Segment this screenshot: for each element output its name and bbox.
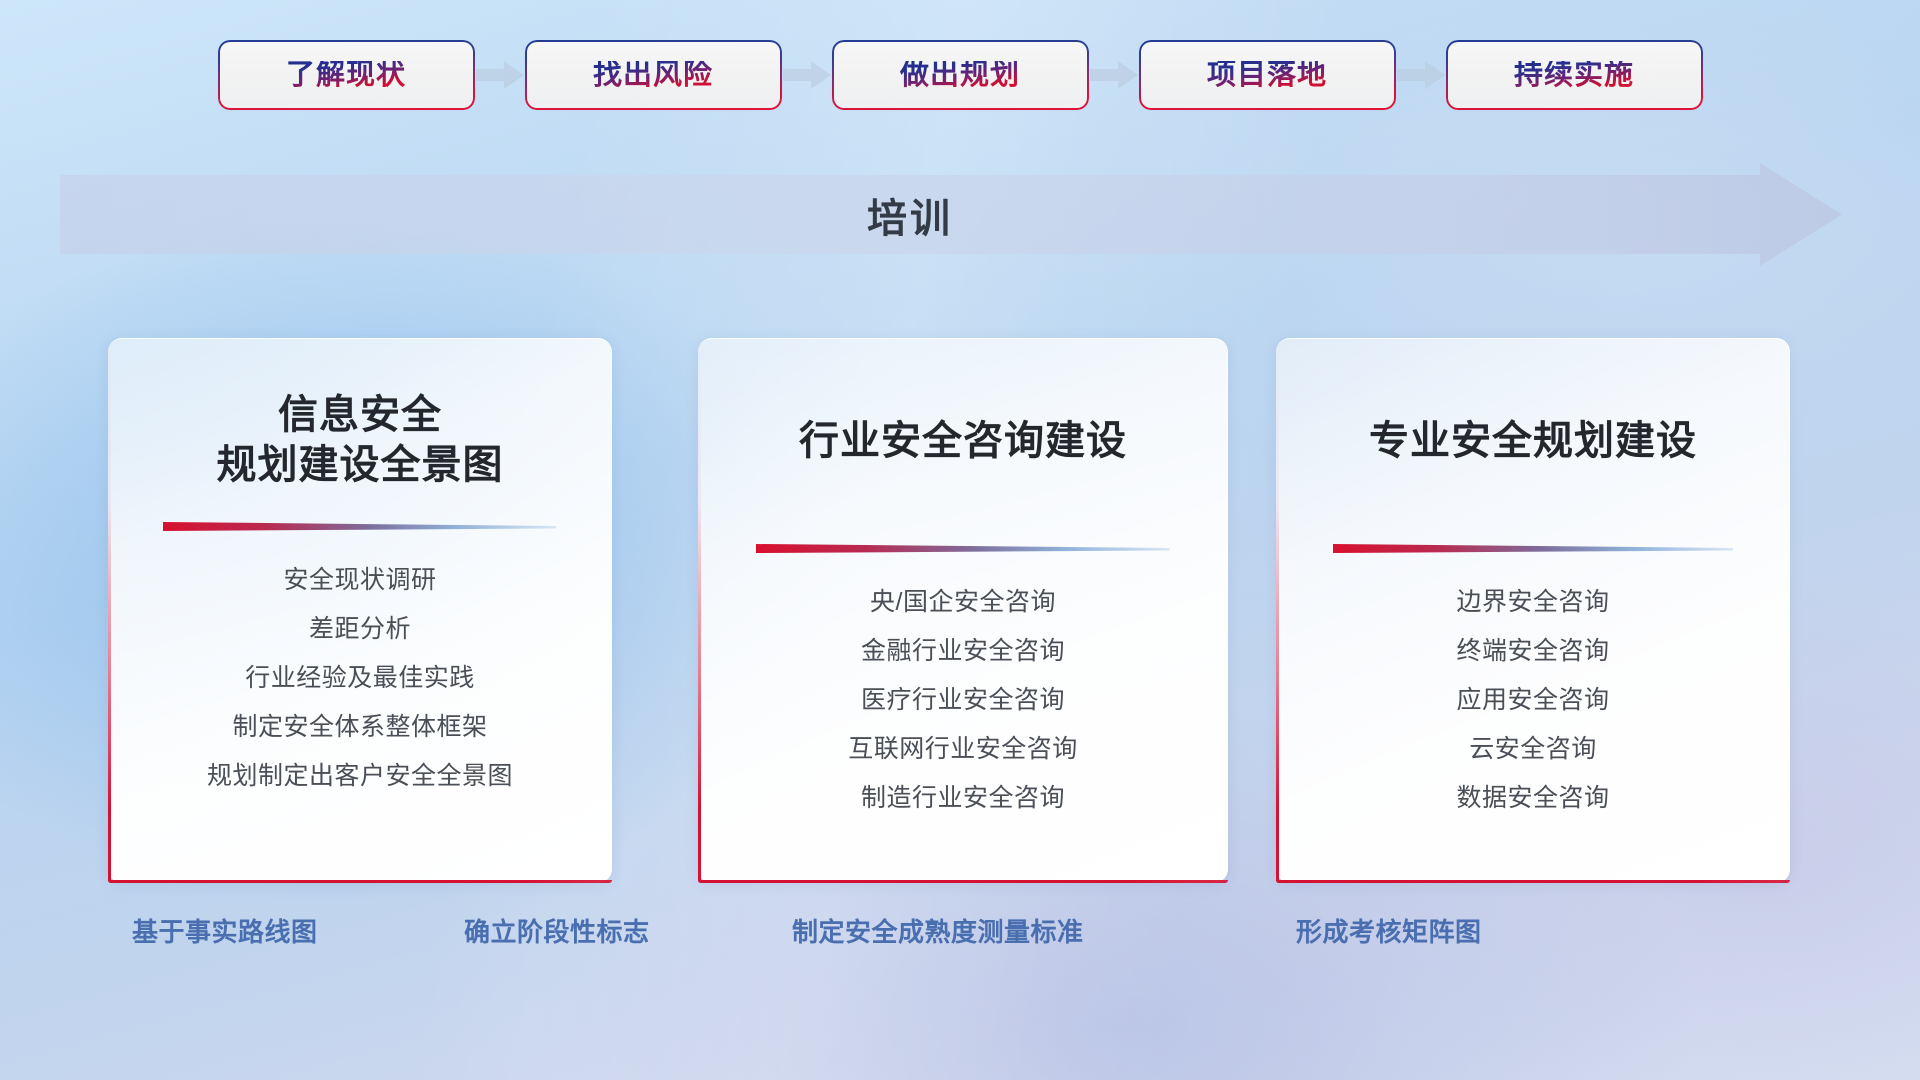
step-label-4: 项目落地 [1207,61,1327,90]
training-banner: 培训 [60,163,1842,266]
card-2-title: 行业安全咨询建设 [698,338,1228,466]
list-item: 金融行业安全咨询 [861,631,1065,671]
list-item: 边界安全咨询 [1456,582,1609,622]
list-item: 互联网行业安全咨询 [848,729,1078,769]
list-item: 规划制定出客户安全全景图 [207,756,513,796]
process-step-bar: 了解现状 找出风险 做出规划 项目落地 持续实施 [0,0,1920,150]
list-item: 行业经验及最佳实践 [245,658,475,698]
card-3[interactable]: 专业安全规划建设 边界安全咨询 终端安全咨询 应用安全咨询 [1276,338,1790,883]
list-item: 差距分析 [309,609,411,649]
step-pill-4[interactable]: 项目落地 [1141,42,1394,108]
footnote-4: 形成考核矩阵图 [1296,912,1482,949]
list-item: 应用安全咨询 [1456,680,1609,720]
banner-title: 培训 [60,163,1760,266]
list-item: 数据安全咨询 [1456,778,1609,818]
list-item: 云安全咨询 [1469,729,1597,769]
card-3-title-line-1: 专业安全规划建设 [1276,416,1790,466]
step-label-3: 做出规划 [900,61,1020,90]
footnote-3: 制定安全成熟度测量标准 [792,912,1084,949]
footnote-2: 确立阶段性标志 [464,912,650,949]
card-2-title-line-1: 行业安全咨询建设 [698,416,1228,466]
card-1-title-line-1: 信息安全 [108,390,612,440]
card-3-title: 专业安全规划建设 [1276,338,1790,466]
step-label-1: 了解现状 [286,61,406,90]
card-1-title: 信息安全 规划建设全景图 [108,338,612,490]
list-item: 制造行业安全咨询 [861,778,1065,818]
arrow-right-icon [474,58,526,92]
step-label-5: 持续实施 [1514,61,1634,90]
card-1-list: 安全现状调研 差距分析 行业经验及最佳实践 制定安全体系整体框架 规划制定出客户… [108,560,612,796]
capability-cards: 信息安全 规划建设全景图 安全现状调研 差距分析 行 [0,338,1920,883]
step-pill-1[interactable]: 了解现状 [220,42,473,108]
card-2-divider [756,542,1169,556]
list-item: 安全现状调研 [283,560,436,600]
step-pill-5[interactable]: 持续实施 [1448,42,1701,108]
card-1[interactable]: 信息安全 规划建设全景图 安全现状调研 差距分析 行 [108,338,612,883]
list-item: 央/国企安全咨询 [870,582,1056,622]
list-item: 医疗行业安全咨询 [861,680,1065,720]
card-3-divider [1333,542,1734,556]
arrow-right-icon [1395,58,1447,92]
step-pill-2[interactable]: 找出风险 [527,42,780,108]
arrow-right-icon [781,58,833,92]
footnote-1: 基于事实路线图 [132,912,318,949]
card-1-divider [163,520,556,534]
card-1-title-line-2: 规划建设全景图 [108,440,612,490]
list-item: 终端安全咨询 [1456,631,1609,671]
list-item: 制定安全体系整体框架 [232,707,487,747]
card-2-list: 央/国企安全咨询 金融行业安全咨询 医疗行业安全咨询 互联网行业安全咨询 制造行… [698,582,1228,818]
step-label-2: 找出风险 [593,61,713,90]
card-2[interactable]: 行业安全咨询建设 央/国企安全咨询 金融行业安全咨询 医疗行业安 [698,338,1228,883]
card-3-list: 边界安全咨询 终端安全咨询 应用安全咨询 云安全咨询 数据安全咨询 [1276,582,1790,818]
footnote-row: 基于事实路线图 确立阶段性标志 制定安全成熟度测量标准 形成考核矩阵图 [0,912,1920,966]
step-pill-3[interactable]: 做出规划 [834,42,1087,108]
arrow-right-icon [1088,58,1140,92]
